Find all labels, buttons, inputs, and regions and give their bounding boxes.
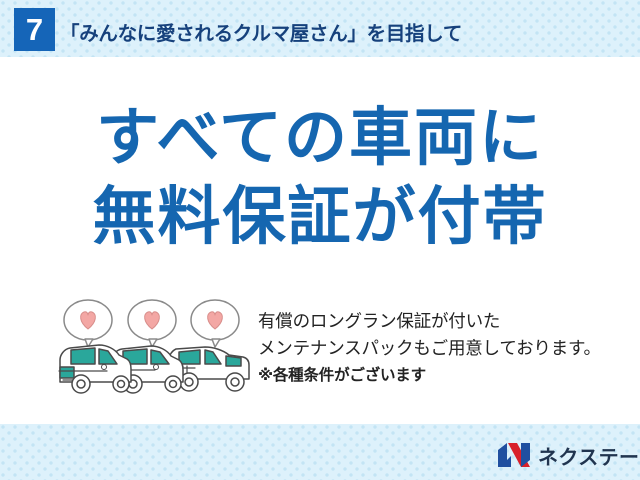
heart-bubble-3 [191, 300, 239, 347]
footer-brand-logo: ネクステージ [497, 440, 640, 470]
headline-line-2: 無料保証が付帯 [0, 186, 640, 249]
description-note: ※各種条件がございます [258, 362, 633, 389]
description-line-2: メンテナンスパックもご用意しております。 [258, 335, 633, 362]
headline-line-1: すべての車両に [0, 107, 640, 170]
nexstage-n-logo-icon [497, 442, 531, 468]
cars-illustration [55, 294, 250, 398]
footer-brand-name: ネクステージ [538, 441, 640, 470]
header-title: 「みんなに愛されるクルマ屋さん」を目指して [60, 17, 462, 46]
cars-illustration-svg [55, 294, 250, 398]
header-number-badge: 7 [14, 8, 55, 51]
heart-bubble-2 [128, 300, 176, 347]
slide-canvas: 7 「みんなに愛されるクルマ屋さん」を目指して すべての車両に 無料保証が付帯 [0, 0, 640, 480]
description-line-1: 有償のロングラン保証が付いた [258, 308, 633, 335]
description-block: 有償のロングラン保証が付いた メンテナンスパックもご用意しております。 ※各種条… [258, 308, 633, 389]
heart-bubble-1 [64, 300, 112, 347]
